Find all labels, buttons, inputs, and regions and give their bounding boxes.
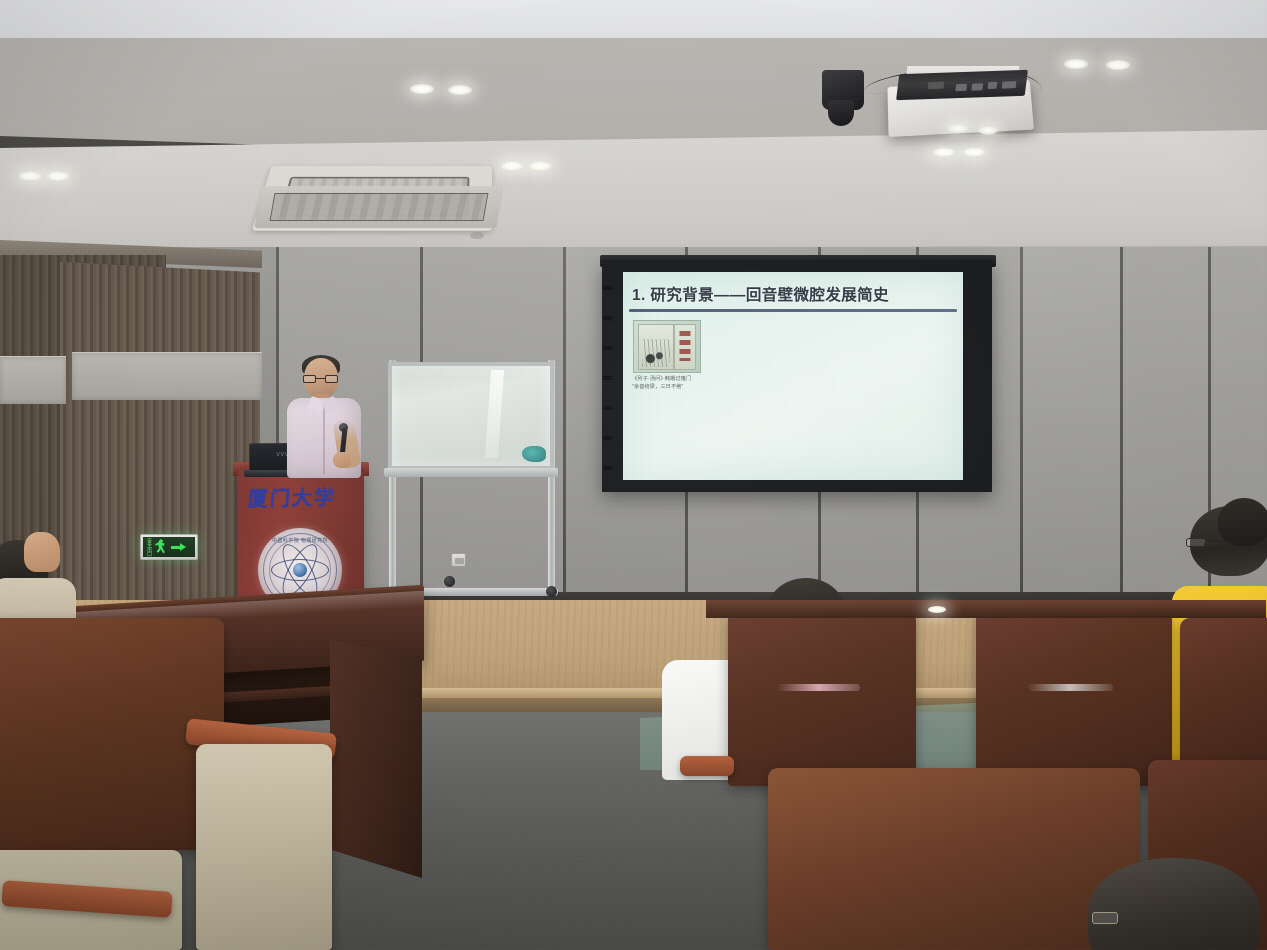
presenter-glasses-icon [303,375,338,383]
slide-caption-line1: 《列子·汤问》·韩娥过雍门 [632,376,691,383]
emergency-exit-sign: 安全出口 [140,534,198,560]
ceiling-sensor-icon [470,232,484,239]
projector-lamp-icon [978,126,998,135]
camera-lens-icon [828,100,854,126]
whiteboard-glare [485,370,504,458]
lecture-hall-photo: 安全出口 1. 研究背景——回音壁微腔发展简史 《列子·汤问》·韩娥过雍门 "余… [0,0,1267,950]
auditorium-seat [768,768,1140,950]
audience-hand [24,532,60,572]
ac-vent-face [254,186,503,228]
atom-nucleus-icon [293,563,307,577]
wall-inset-panel [0,356,66,404]
presenter-hand [333,452,351,468]
seat-row-rail [706,600,1266,618]
seat-armrest [680,756,734,776]
caster-wheel-icon [546,586,557,597]
ceiling-downlight-icon [410,84,434,94]
projector-connector-panel [896,70,1028,100]
mobile-whiteboard [388,362,554,470]
whiteboard-eraser-cloth [522,446,546,462]
ceiling-downlight-icon [448,85,472,95]
ceiling-downlight-icon [46,171,70,181]
auditorium-seat [196,744,332,950]
ceiling-downlight-icon [962,147,986,157]
ceiling-downlight-icon [18,171,42,181]
caster-wheel-icon [444,576,455,587]
arrow-right-icon [171,542,186,552]
whiteboard-pen-tray [384,468,558,477]
audience-glasses-temple [1204,543,1220,545]
audience-glasses-icon [1092,912,1118,924]
audience-head [1088,858,1260,950]
desk-side-panel [330,640,422,878]
slide-title-rule [629,309,957,312]
wall-power-outlet [451,553,466,567]
exit-sign-label: 安全出口 [146,538,151,556]
audience-head [1218,498,1267,546]
ceiling-downlight-icon [528,161,552,171]
ceiling-upper [0,0,1267,44]
wood-slat-wall [60,262,260,614]
ceiling-downlight-icon [932,147,956,157]
projector-lamp-icon [948,124,968,133]
ceiling-downlight-icon [1106,60,1130,70]
wall-inset-panel [72,352,262,400]
running-man-icon [153,539,169,555]
ceiling-downlight-icon [500,161,524,171]
emblem-top-text: 中国科学院 物理研究所 [272,537,328,544]
auditorium-seat [976,610,1172,786]
slide-title: 1. 研究背景——回音壁微腔发展简史 [632,283,889,305]
slide-caption-line2: "余音绕梁，三日不绝" [632,384,683,391]
slide-figure-image [633,320,701,373]
seat-row-light-icon [928,606,946,613]
auditorium-seat [728,610,916,786]
audience-glasses-icon [1186,538,1206,547]
ceiling-downlight-icon [1064,59,1088,69]
podium-university-name: 厦门大学 [247,481,337,512]
presentation-slide: 1. 研究背景——回音壁微腔发展简史 《列子·汤问》·韩娥过雍门 "余音绕梁，三… [623,272,963,480]
